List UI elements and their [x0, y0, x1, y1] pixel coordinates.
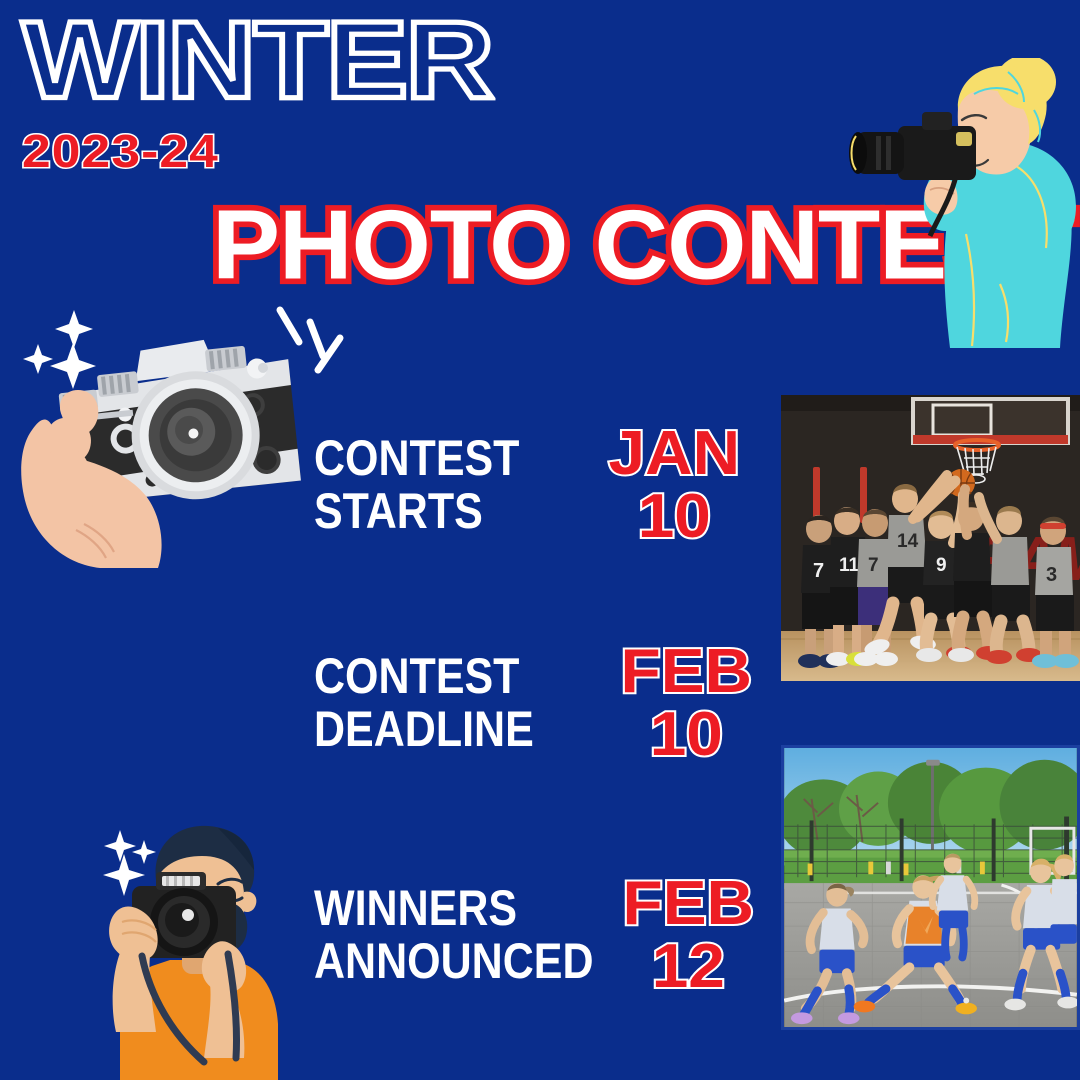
schedule-row-contest-starts: CONTEST STARTS JAN 10	[314, 418, 764, 638]
sparkle	[55, 310, 93, 348]
sparkle	[132, 840, 156, 864]
schedule-row-winners-announced: WINNERS ANNOUNCED FEB 12	[314, 858, 764, 1078]
schedule-row-contest-deadline: CONTEST DEADLINE FEB 10	[314, 638, 764, 858]
svg-text:14: 14	[897, 531, 919, 552]
schedule-label-line2: ANNOUNCED	[314, 933, 594, 989]
schedule-label-line1: CONTEST	[314, 648, 519, 704]
svg-text:11: 11	[839, 555, 860, 576]
schedule-row-date: FEB 12	[623, 872, 754, 998]
schedule-row-label: WINNERS ANNOUNCED	[314, 882, 594, 987]
man-photographer-illustration	[78, 818, 318, 1080]
schedule-label-line2: DEADLINE	[314, 701, 534, 757]
svg-text:7: 7	[813, 560, 824, 582]
svg-text:3: 3	[1046, 564, 1057, 586]
schedule-day: 10	[621, 703, 752, 766]
schedule-row-date: FEB 10	[621, 640, 752, 766]
photo-contest-poster: WINTER 2023-24 PHOTO CONTEST	[0, 0, 1080, 1080]
sparkle	[104, 830, 136, 862]
year-range-label: 2023-24	[22, 124, 219, 178]
schedule-label-line2: STARTS	[314, 483, 483, 539]
svg-text:7: 7	[868, 555, 879, 576]
schedule-row-label: CONTEST STARTS	[314, 432, 519, 537]
schedule-label-line1: WINNERS	[314, 880, 517, 936]
photo-youth-soccer	[781, 745, 1080, 1030]
schedule-month: FEB	[621, 640, 752, 703]
schedule-label-line1: CONTEST	[314, 430, 519, 486]
schedule-month: JAN	[609, 422, 740, 485]
schedule-day: 12	[623, 935, 754, 998]
photo-youth-basketball: RAM 7 11	[781, 395, 1080, 681]
schedule-list: CONTEST STARTS JAN 10 CONTEST DEADLINE F…	[314, 418, 764, 1078]
woman-photographer-illustration	[838, 58, 1080, 348]
schedule-row-label: CONTEST DEADLINE	[314, 650, 534, 755]
sparkle	[23, 344, 53, 374]
season-headline: WINTER	[22, 6, 492, 115]
svg-text:9: 9	[936, 555, 947, 576]
schedule-month: FEB	[623, 872, 754, 935]
schedule-day: 10	[609, 485, 740, 548]
schedule-row-date: JAN 10	[609, 422, 740, 548]
sparkle	[50, 343, 96, 389]
